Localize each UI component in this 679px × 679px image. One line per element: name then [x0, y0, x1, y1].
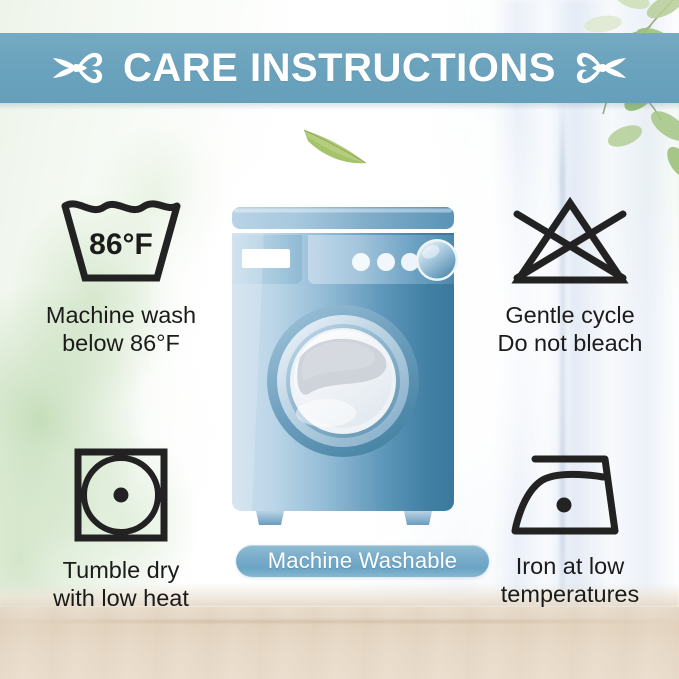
care-item-do-not-bleach: Gentle cycle Do not bleach [470, 196, 670, 357]
care-label-do-not-bleach: Gentle cycle Do not bleach [497, 302, 642, 357]
fleur-de-lis-icon-right [572, 42, 632, 94]
svg-text:86°F: 86°F [89, 228, 153, 261]
tumble-dry-low-icon [71, 447, 171, 548]
washing-machine-illustration [228, 205, 458, 535]
iron-low-icon [507, 447, 633, 544]
care-instructions-infographic: CARE INSTRUCTIONS 86°F Machine wash belo… [0, 0, 679, 679]
do-not-bleach-triangle-icon [505, 196, 635, 293]
fleur-de-lis-icon-left [47, 42, 107, 94]
machine-washable-badge: Machine Washable [236, 545, 489, 577]
wooden-table-surface [0, 607, 679, 679]
care-item-iron: Iron at low temperatures [470, 447, 670, 608]
care-label-iron: Iron at low temperatures [501, 553, 639, 608]
care-item-machine-wash: 86°F Machine wash below 86°F [14, 196, 228, 357]
table-seam-line [0, 620, 679, 623]
badge-label: Machine Washable [268, 548, 457, 574]
page-title: CARE INSTRUCTIONS [123, 46, 556, 91]
banner-shadow [0, 103, 679, 110]
care-label-tumble-dry: Tumble dry with low heat [53, 557, 189, 612]
wash-tub-icon: 86°F [56, 196, 186, 293]
floating-leaf-icon [300, 123, 370, 167]
care-label-machine-wash: Machine wash below 86°F [46, 302, 196, 357]
care-item-tumble-dry: Tumble dry with low heat [14, 447, 228, 612]
header-banner: CARE INSTRUCTIONS [0, 33, 679, 103]
